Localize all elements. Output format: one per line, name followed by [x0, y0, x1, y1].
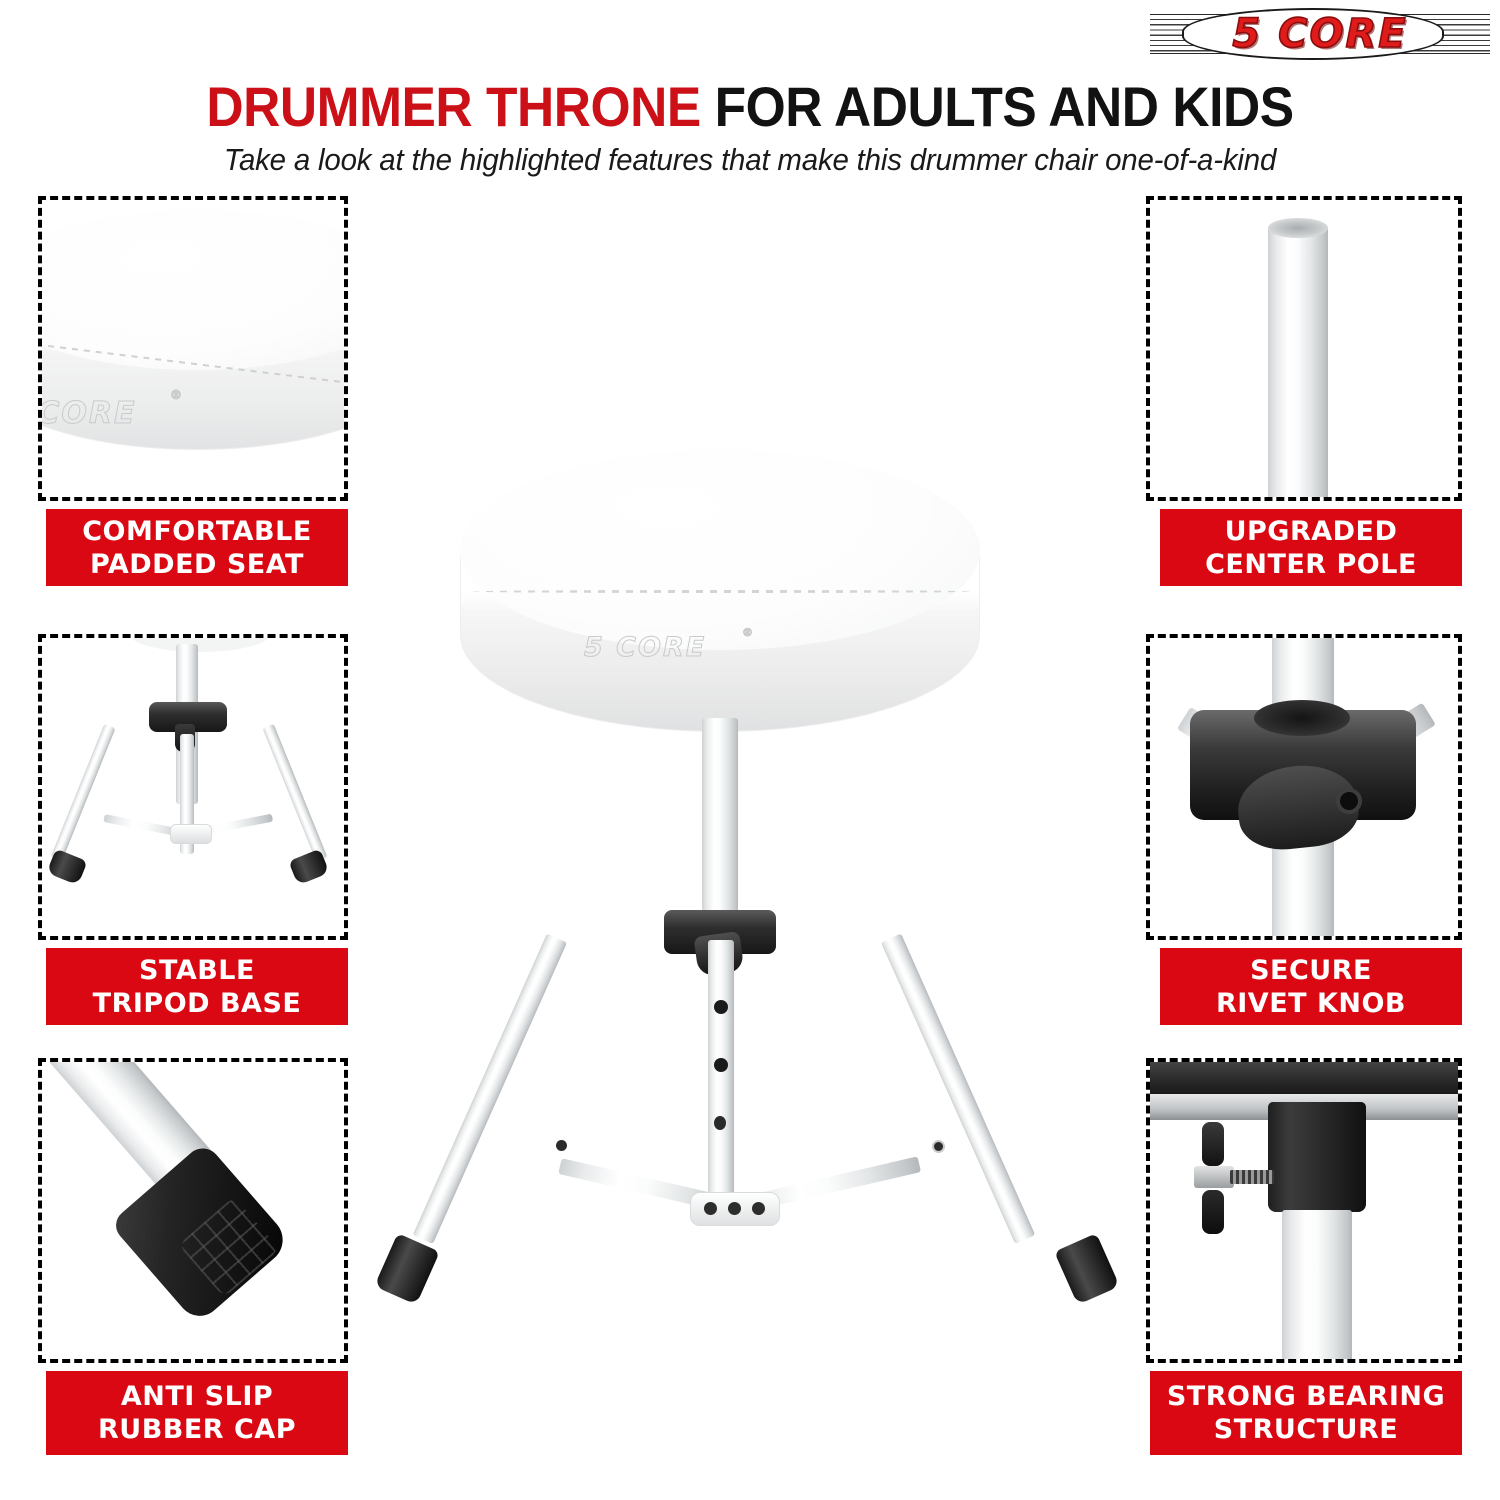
hero-product-image: 5 CORE ®: [360, 440, 1140, 1340]
bearing-housing: [1268, 1102, 1366, 1212]
seat-emboss-registered-mark: ®: [170, 388, 182, 402]
hero-leg-left: [413, 934, 567, 1244]
seat-cushion-top: [38, 210, 348, 370]
rivet-knob-hole: [1336, 788, 1362, 814]
photo-bearing-structure-closeup: [1146, 1058, 1462, 1363]
bearing-structure-image: [1150, 1062, 1458, 1359]
callout-comfortable-padded-seat: 5 CORE ® COMFORTABLE PADDED SEAT: [38, 196, 348, 586]
rivet-knob-collar: [1254, 700, 1350, 736]
callout-stable-tripod-base: STABLE TRIPOD BASE: [38, 634, 348, 1024]
rivet-knob-image: [1150, 638, 1458, 936]
bearing-wing-screw-top: [1202, 1122, 1224, 1166]
callout-strong-bearing-structure: STRONG BEARING STRUCTURE: [1146, 1058, 1462, 1458]
banner-secure-rivet-knob: SECURE RIVET KNOB: [1160, 948, 1462, 1025]
seat-emboss-registered-mark: ®: [742, 626, 753, 639]
tripod-leg-left: [50, 724, 115, 862]
infographic-page: 5 CORE DRUMMER THRONE FOR ADULTS AND KID…: [0, 0, 1500, 1500]
banner-line-2: RUBBER CAP: [98, 1413, 296, 1446]
photo-rubber-cap-closeup: [38, 1058, 348, 1363]
seat-underside-hint: [130, 638, 270, 652]
banner-line-1: STRONG BEARING: [1167, 1380, 1445, 1413]
banner-line-1: STABLE: [139, 954, 255, 987]
banner-line-2: RIVET KNOB: [1216, 987, 1406, 1020]
callout-anti-slip-rubber-cap: ANTI SLIP RUBBER CAP: [38, 1058, 348, 1458]
center-pole-tube: [1268, 226, 1328, 501]
banner-upgraded-center-pole: UPGRADED CENTER POLE: [1160, 509, 1462, 586]
banner-line-2: TRIPOD BASE: [93, 987, 302, 1020]
hero-hub-bolt-3: [752, 1202, 765, 1215]
photo-padded-seat-closeup: 5 CORE ®: [38, 196, 348, 501]
rubber-cap-image: [42, 1062, 344, 1359]
seat-emboss-logo: 5 CORE: [584, 632, 706, 663]
page-title-black: FOR ADULTS AND KIDS: [715, 75, 1294, 138]
padded-seat-image: 5 CORE ®: [42, 200, 344, 497]
bearing-seat-plate: [1150, 1062, 1458, 1094]
banner-line-1: SECURE: [1250, 954, 1372, 987]
photo-center-pole-closeup: [1146, 196, 1462, 501]
banner-comfortable-padded-seat: COMFORTABLE PADDED SEAT: [46, 509, 348, 586]
banner-line-1: ANTI SLIP: [121, 1380, 273, 1413]
photo-tripod-base-closeup: [38, 634, 348, 940]
bearing-wing-screw-bottom: [1202, 1190, 1224, 1234]
tripod-base-image: [42, 638, 344, 936]
hero-hub-bolt-1: [704, 1202, 717, 1215]
banner-line-2: STRUCTURE: [1214, 1413, 1398, 1446]
hero-foot-left: [374, 1233, 440, 1305]
hero-adjust-hole-3: [714, 1116, 726, 1130]
page-title: DRUMMER THRONE FOR ADULTS AND KIDS: [60, 78, 1440, 136]
hero-adjust-hole-1: [714, 1000, 728, 1014]
seat-cushion-top: [460, 450, 980, 650]
banner-line-1: UPGRADED: [1225, 515, 1398, 548]
hero-leg-rivet-left: [556, 1140, 567, 1151]
bearing-screw-thread: [1230, 1170, 1274, 1184]
hero-center-pole: [702, 718, 738, 928]
banner-line-2: PADDED SEAT: [90, 548, 304, 581]
tripod-leg-right: [262, 724, 327, 862]
seat-stitch-line: [472, 590, 972, 593]
five-core-logo: 5 CORE: [1150, 8, 1490, 60]
hero-foot-right: [1054, 1233, 1120, 1305]
hero-hub-bolt-2: [728, 1202, 741, 1215]
bearing-screw-collar: [1194, 1166, 1234, 1188]
banner-stable-tripod-base: STABLE TRIPOD BASE: [46, 948, 348, 1025]
banner-line-2: CENTER POLE: [1205, 548, 1417, 581]
tripod-foot-left: [46, 849, 87, 886]
center-pole-image: [1150, 200, 1458, 497]
hero-leg-right: [881, 934, 1035, 1244]
page-title-red: DRUMMER THRONE: [206, 75, 700, 138]
callout-upgraded-center-pole: UPGRADED CENTER POLE: [1146, 196, 1462, 586]
center-pole-opening: [1268, 218, 1328, 238]
banner-anti-slip-rubber-cap: ANTI SLIP RUBBER CAP: [46, 1371, 348, 1455]
seat-emboss-logo: 5 CORE: [38, 396, 136, 431]
logo-text: 5 CORE: [1150, 8, 1490, 60]
callout-secure-rivet-knob: SECURE RIVET KNOB: [1146, 634, 1462, 1024]
banner-line-1: COMFORTABLE: [82, 515, 312, 548]
hero-leg-rivet-right: [932, 1140, 945, 1153]
page-subtitle: Take a look at the highlighted features …: [38, 142, 1463, 178]
hero-adjust-hole-2: [714, 1058, 728, 1072]
banner-strong-bearing-structure: STRONG BEARING STRUCTURE: [1150, 1371, 1462, 1455]
tripod-brace-hub: [170, 824, 212, 844]
bearing-center-pole: [1282, 1210, 1352, 1359]
hero-leg-center: [708, 940, 734, 1220]
photo-rivet-knob-closeup: [1146, 634, 1462, 940]
